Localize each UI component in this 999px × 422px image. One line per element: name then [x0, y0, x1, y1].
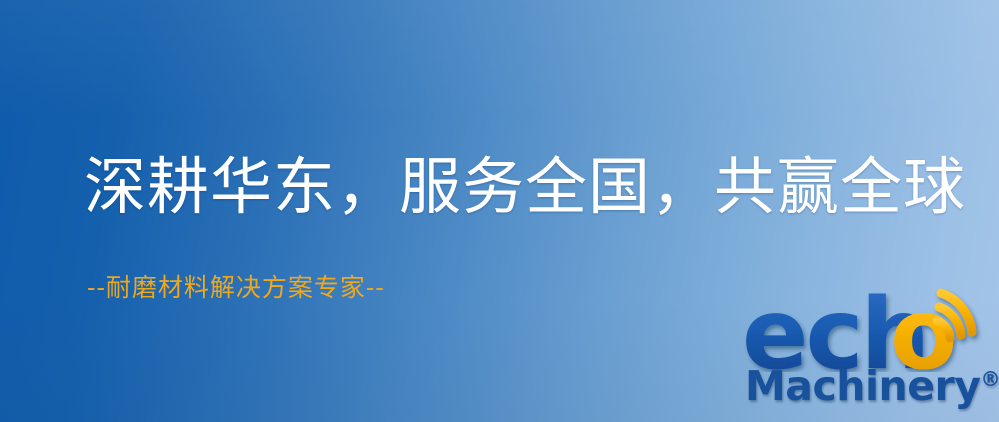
promo-banner: 深耕华东，服务全国，共赢全球 --耐磨材料解决方案专家--	[0, 0, 999, 422]
logo-tagline-text: Machinery	[745, 362, 980, 410]
registered-trademark-icon: ®	[980, 367, 999, 391]
echo-wordmark-icon: ech o	[742, 288, 994, 372]
subtitle-text: --耐磨材料解决方案专家--	[87, 268, 385, 304]
logo-tagline: Machinery®	[745, 366, 999, 407]
company-logo: ech o Machinery®	[742, 288, 994, 418]
headline-text: 深耕华东，服务全国，共赢全球	[84, 152, 966, 221]
